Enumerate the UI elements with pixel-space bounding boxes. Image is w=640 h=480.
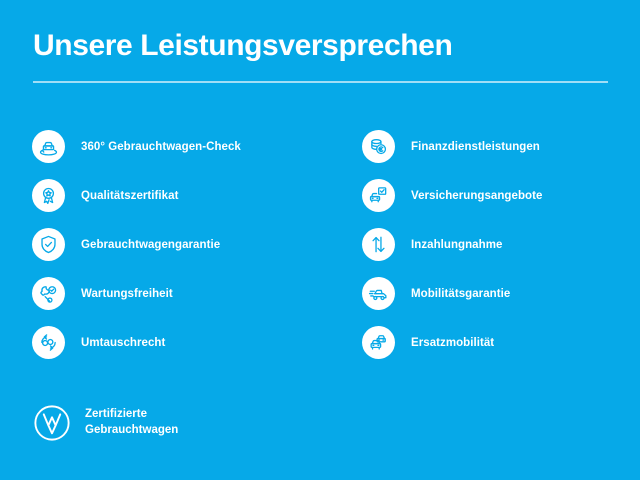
- header: Unsere Leistungsversprechen: [33, 30, 608, 83]
- benefit-item-mobilitaetsgarantie[interactable]: Mobilitätsgarantie: [362, 269, 622, 318]
- benefit-label: Ersatzmobilität: [411, 337, 494, 349]
- title-divider: [33, 81, 608, 83]
- car-360-check-icon: [32, 130, 65, 163]
- benefit-label: Umtauschrecht: [81, 337, 165, 349]
- promise-panel: Unsere Leistungsversprechen 360° Gebrauc…: [0, 0, 640, 480]
- benefit-label: Versicherungsangebote: [411, 190, 542, 202]
- brand-footer: Zertifizierte Gebrauchtwagen: [33, 404, 178, 442]
- two-cars-icon: [362, 326, 395, 359]
- brand-text: Zertifizierte Gebrauchtwagen: [85, 407, 178, 438]
- benefit-item-umtauschrecht[interactable]: Umtauschrecht: [32, 318, 362, 367]
- arrows-up-down-icon: [362, 228, 395, 261]
- benefit-label: Finanzdienstleistungen: [411, 141, 540, 153]
- exchange-arrows-icon: [32, 326, 65, 359]
- wrench-check-icon: [32, 277, 65, 310]
- car-speed-icon: [362, 277, 395, 310]
- benefit-item-versicherungsangebote[interactable]: Versicherungsangebote: [362, 171, 622, 220]
- benefit-item-gebrauchtwagengarantie[interactable]: Gebrauchtwagengarantie: [32, 220, 362, 269]
- benefit-label: Inzahlungnahme: [411, 239, 502, 251]
- volkswagen-logo-icon: [33, 404, 71, 442]
- benefit-item-ersatzmobilitaet[interactable]: Ersatzmobilität: [362, 318, 622, 367]
- brand-text-line-2: Gebrauchtwagen: [85, 423, 178, 439]
- benefits-section: 360° Gebrauchtwagen-Check Qualitätszerti…: [0, 122, 640, 367]
- benefit-item-wartungsfreiheit[interactable]: Wartungsfreiheit: [32, 269, 362, 318]
- brand-text-line-1: Zertifizierte: [85, 407, 178, 423]
- benefit-label: Gebrauchtwagengarantie: [81, 239, 220, 251]
- benefit-label: 360° Gebrauchtwagen-Check: [81, 141, 241, 153]
- benefit-item-qualitaetszertifikat[interactable]: Qualitätszertifikat: [32, 171, 362, 220]
- shield-check-icon: [32, 228, 65, 261]
- benefits-right-column: Finanzdienstleistungen Versicherungsange…: [362, 122, 622, 367]
- benefits-left-column: 360° Gebrauchtwagen-Check Qualitätszerti…: [32, 122, 362, 367]
- benefit-label: Mobilitätsgarantie: [411, 288, 510, 300]
- page-title: Unsere Leistungsversprechen: [33, 30, 608, 62]
- benefit-label: Qualitätszertifikat: [81, 190, 178, 202]
- benefit-item-inzahlungnahme[interactable]: Inzahlungnahme: [362, 220, 622, 269]
- coins-euro-icon: [362, 130, 395, 163]
- benefit-label: Wartungsfreiheit: [81, 288, 173, 300]
- benefit-item-finanzdienstleistungen[interactable]: Finanzdienstleistungen: [362, 122, 622, 171]
- car-document-check-icon: [362, 179, 395, 212]
- quality-rosette-icon: [32, 179, 65, 212]
- benefit-item-gebrauchtwagen-check[interactable]: 360° Gebrauchtwagen-Check: [32, 122, 362, 171]
